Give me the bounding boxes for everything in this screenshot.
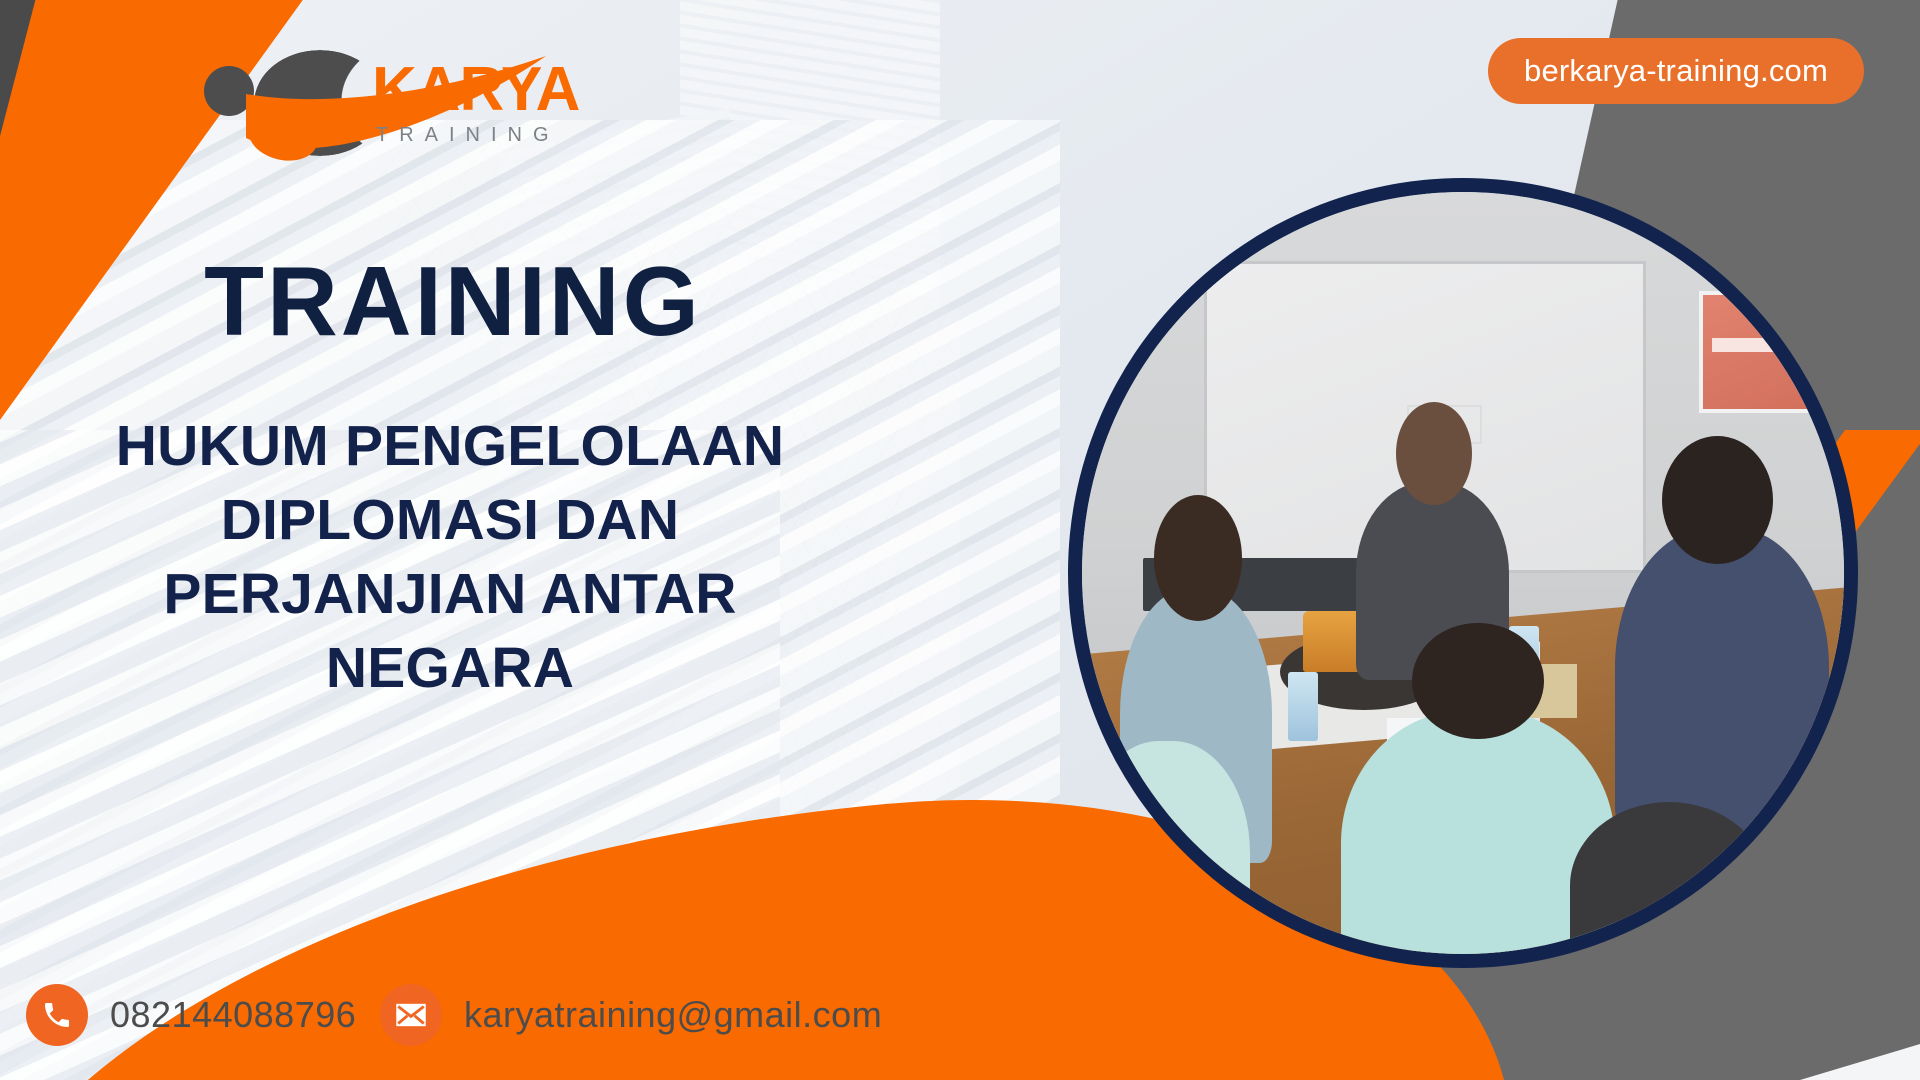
page-title: TRAINING (0, 250, 900, 353)
course-title-line: NEGARA (0, 631, 900, 705)
photo-participant (1082, 741, 1250, 954)
contact-phone[interactable]: 082144088796 (26, 984, 356, 1046)
logo-subtitle: TRAINING (376, 124, 560, 147)
phone-icon (26, 984, 88, 1046)
photo-wall-poster (1699, 291, 1821, 413)
photo-ring-border (1068, 178, 1858, 968)
contact-email[interactable]: karyatraining@gmail.com (380, 984, 882, 1046)
course-title-line: HUKUM PENGELOLAAN (0, 409, 900, 483)
phone-number: 082144088796 (110, 994, 356, 1036)
website-badge[interactable]: berkarya-training.com (1488, 38, 1864, 104)
website-label: berkarya-training.com (1524, 53, 1828, 89)
training-poster: berkarya-training.com KARYA TRAINING TRA… (0, 0, 1920, 1080)
photo-participant (1615, 527, 1828, 832)
course-title: HUKUM PENGELOLAAN DIPLOMASI DAN PERJANJI… (0, 409, 900, 705)
photo-water-bottle (1288, 672, 1318, 741)
email-icon (380, 984, 442, 1046)
headline-block: TRAINING HUKUM PENGELOLAAN DIPLOMASI DAN… (0, 250, 900, 705)
course-title-line: DIPLOMASI DAN (0, 483, 900, 557)
email-address: karyatraining@gmail.com (464, 994, 882, 1036)
training-photo (1082, 192, 1844, 954)
karya-training-logo[interactable]: KARYA TRAINING (196, 36, 576, 148)
logo-wordmark: KARYA (372, 54, 579, 125)
course-title-line: PERJANJIAN ANTAR (0, 557, 900, 631)
